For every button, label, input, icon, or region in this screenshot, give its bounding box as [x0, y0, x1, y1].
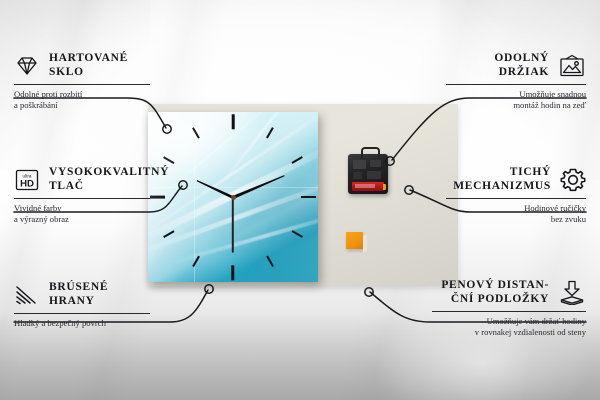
battery-label-strip — [355, 184, 375, 188]
battery-terminal — [383, 184, 386, 190]
product-photo — [148, 104, 458, 286]
feature-title: HARTOVANÉ SKLO — [49, 52, 128, 79]
infographic-canvas: HARTOVANÉ SKLO Odolné proti rozbití a po… — [0, 0, 600, 400]
feature-subtitle: Vividné farby a výrazný obraz — [14, 203, 150, 225]
feature-header: ultra HD VYSOKOKVALITNÝ TLAČ — [14, 166, 150, 193]
battery — [352, 182, 384, 191]
feature-header: HARTOVANÉ SKLO — [14, 52, 150, 79]
picture-frame-icon — [558, 54, 586, 78]
feature-title: VYSOKOKVALITNÝ TLAČ — [49, 166, 169, 193]
feature-title: PENOVÝ DISTAN- ČNÍ PODLOŽKY — [441, 279, 549, 306]
feature-silent-mechanism[interactable]: TICHÝ MECHANIZMUS Hodinové ručičky bez z… — [446, 166, 586, 225]
feature-subtitle: Umožňuje snadnou montáž hodin na zeď — [446, 89, 586, 111]
feature-title: BRÚSENÉ HRANY — [49, 281, 108, 308]
feature-subtitle: Hodinové ručičky bez zvuku — [446, 203, 586, 225]
feature-title: ODOLNÝ DRŽIAK — [494, 52, 549, 79]
foam-pad-arrow-icon — [558, 280, 586, 305]
feature-high-quality-print[interactable]: ultra HD VYSOKOKVALITNÝ TLAČ Vividné far… — [14, 166, 150, 225]
clock-second-hand — [232, 197, 234, 253]
mechanism-plate — [370, 160, 381, 167]
feature-divider — [14, 313, 150, 314]
clock-center-cap — [231, 195, 236, 200]
hanger-hook — [361, 147, 380, 158]
diamond-icon — [14, 55, 40, 77]
wall-clock — [148, 112, 318, 282]
feature-divider — [446, 198, 586, 199]
gear-icon — [560, 167, 586, 192]
feature-foam-spacers[interactable]: PENOVÝ DISTAN- ČNÍ PODLOŽKY Umožňuje vám… — [432, 279, 586, 338]
feature-header: TICHÝ MECHANIZMUS — [446, 166, 586, 193]
feature-title: TICHÝ MECHANIZMUS — [453, 166, 551, 193]
mechanism-plate — [353, 172, 362, 179]
feature-subtitle: Odolné proti rozbití a poškrábání — [14, 89, 150, 111]
feature-subtitle: Hladký a bezpečný povrch — [14, 318, 150, 329]
foam-pad-side — [363, 234, 367, 253]
feature-divider — [446, 84, 586, 85]
mechanism-plate — [367, 171, 381, 179]
hatched-edges-icon — [14, 284, 40, 306]
feature-polished-edges[interactable]: BRÚSENÉ HRANY Hladký a bezpečný povrch — [14, 281, 150, 329]
feature-divider — [432, 311, 586, 312]
feature-divider — [14, 84, 150, 85]
feature-header: PENOVÝ DISTAN- ČNÍ PODLOŽKY — [432, 279, 586, 306]
clock-mechanism — [348, 154, 388, 194]
feature-header: ODOLNÝ DRŽIAK — [446, 52, 586, 79]
ultra-hd-icon-main-text: HD — [20, 178, 34, 189]
ultra-hd-icon: ultra HD — [14, 168, 40, 192]
feature-durable-hanger[interactable]: ODOLNÝ DRŽIAK Umožňuje snadnou montáž ho… — [446, 52, 586, 111]
feature-divider — [14, 198, 150, 199]
feature-subtitle: Umožňuje vám držať hodiny v rovnakej vzd… — [432, 316, 586, 338]
foam-spacer-pad — [346, 232, 363, 249]
mechanism-plate — [353, 160, 366, 169]
feature-header: BRÚSENÉ HRANY — [14, 281, 150, 308]
feature-hardened-glass[interactable]: HARTOVANÉ SKLO Odolné proti rozbití a po… — [14, 52, 150, 111]
